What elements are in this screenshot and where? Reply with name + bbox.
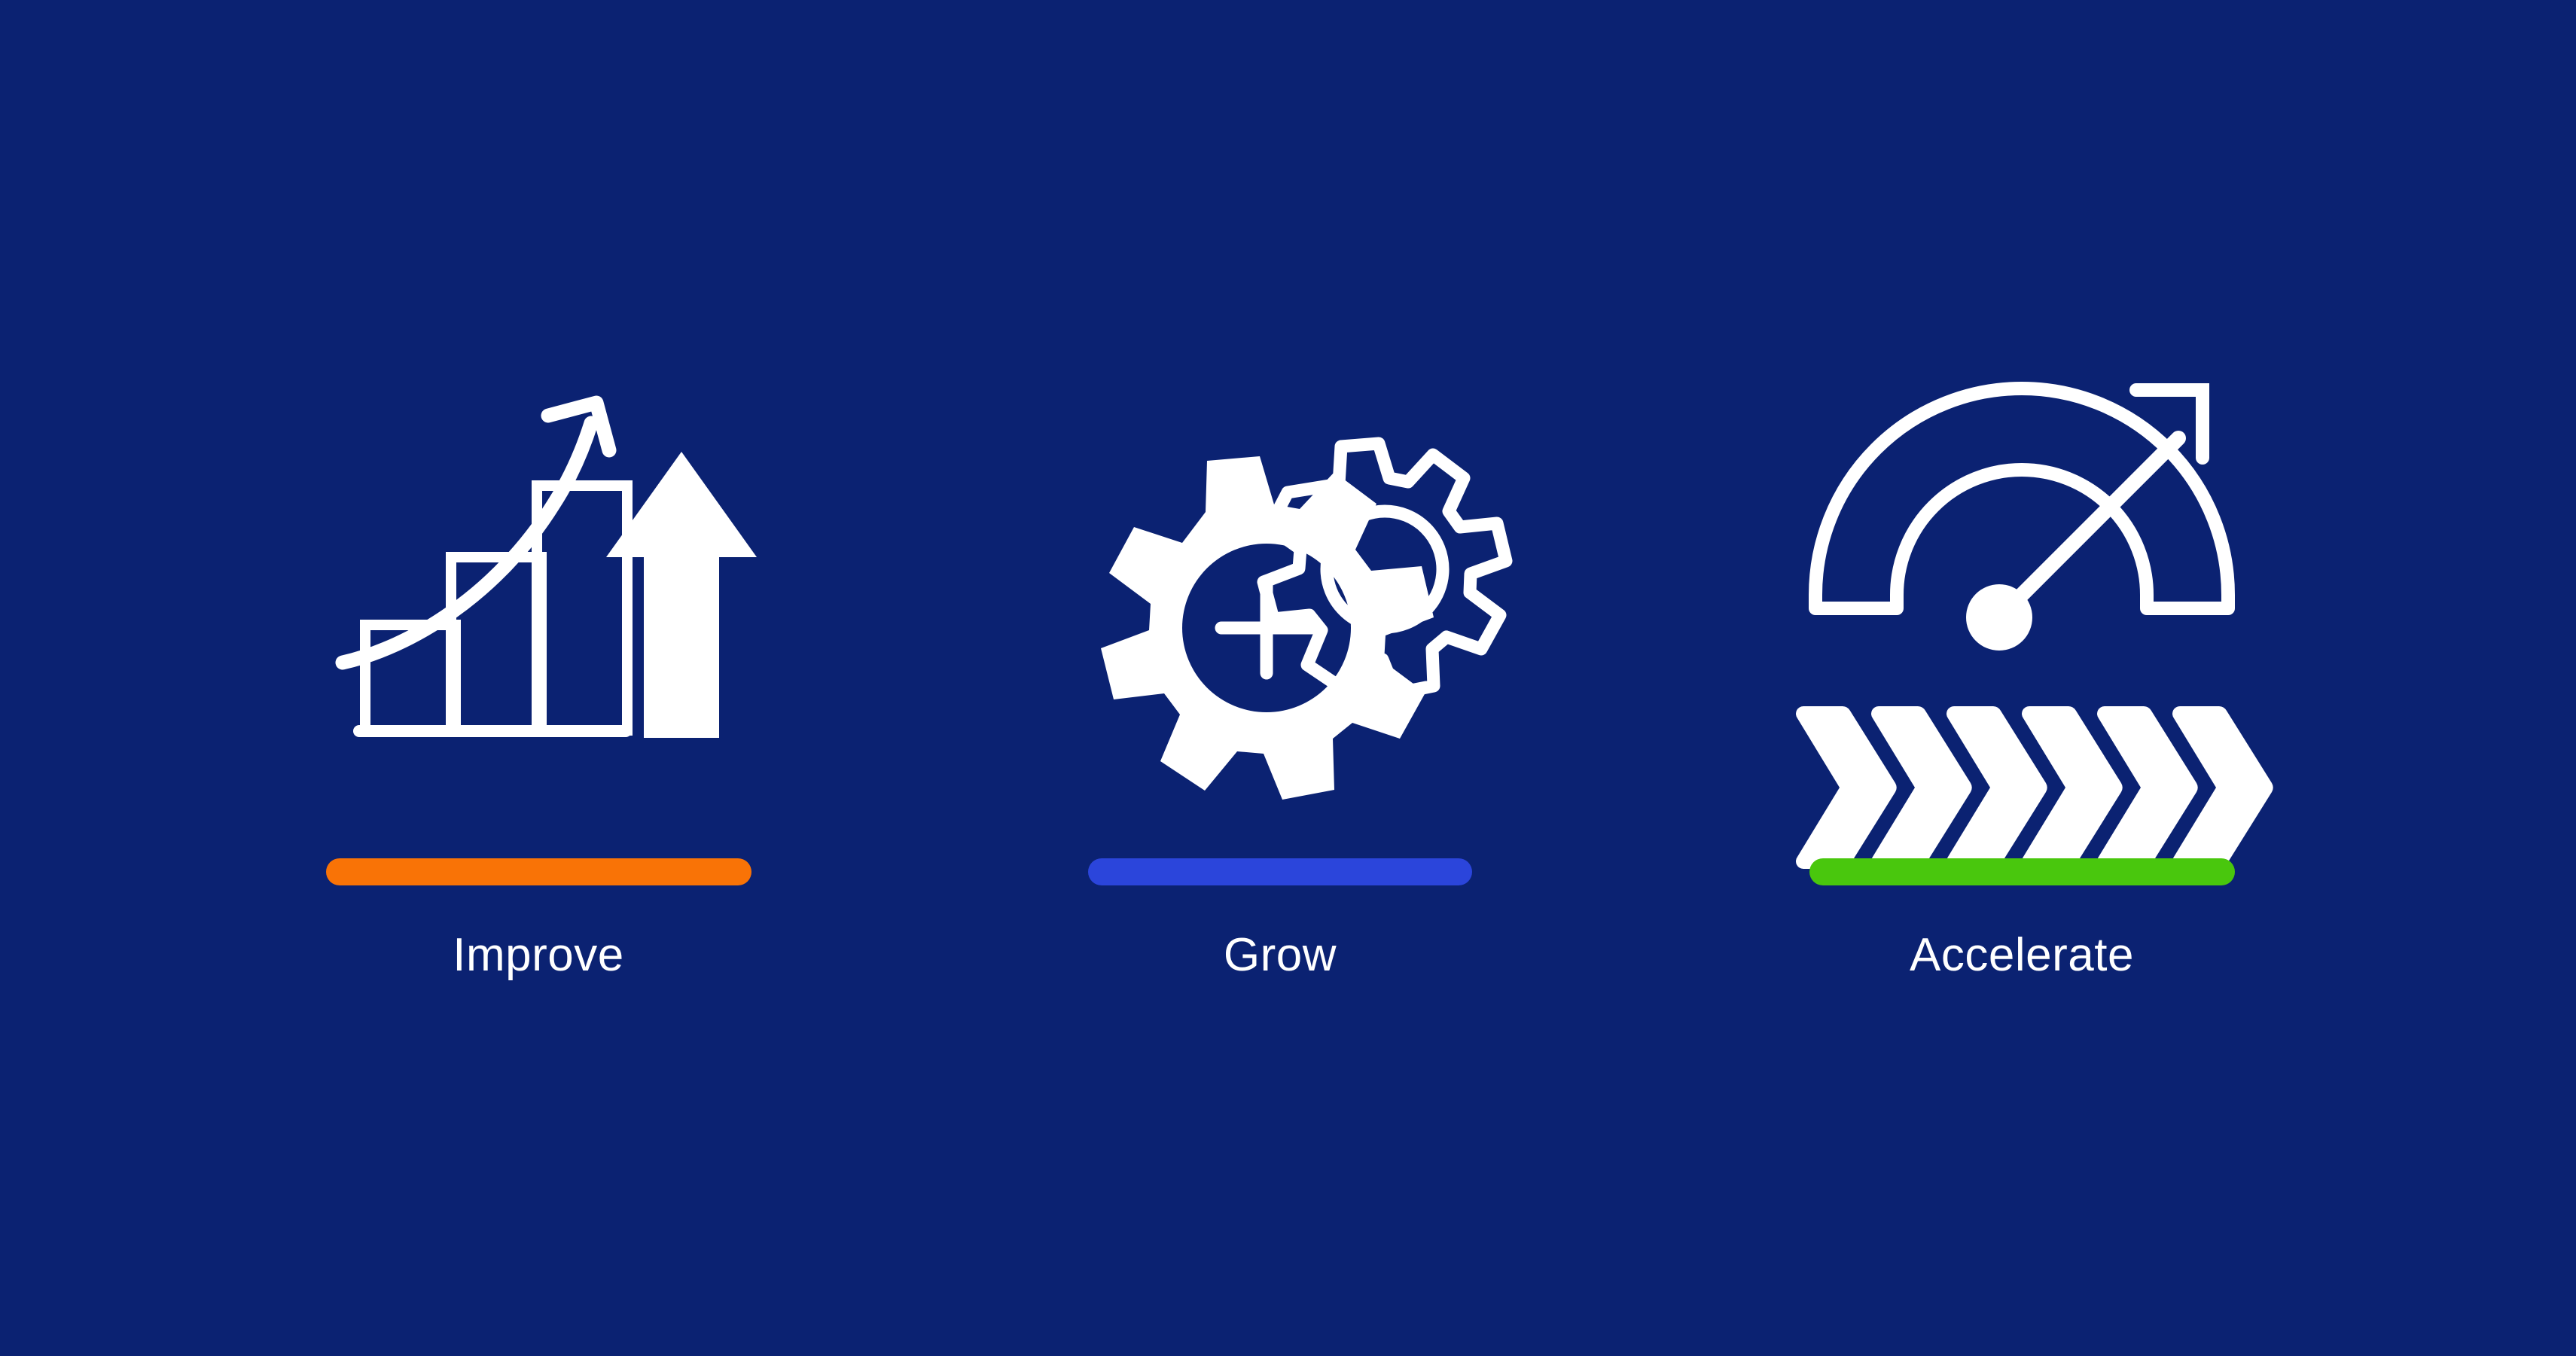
speedometer-chevrons-icon bbox=[1811, 354, 2233, 821]
feature-column-grow[interactable]: Grow bbox=[1069, 354, 1491, 979]
feature-column-accelerate[interactable]: Accelerate bbox=[1811, 354, 2233, 979]
needle-hub bbox=[1966, 584, 2032, 651]
gauge-needle bbox=[2011, 438, 2178, 605]
accent-rule-grow bbox=[1088, 858, 1472, 885]
bar-chart-bar-3 bbox=[537, 486, 627, 730]
accent-rule-improve bbox=[326, 858, 751, 885]
feature-label-grow: Grow bbox=[1224, 932, 1337, 979]
chevron-row bbox=[1796, 706, 2273, 869]
feature-columns: Improve bbox=[0, 0, 2576, 1356]
growth-bar-chart-arrow-icon bbox=[328, 354, 749, 821]
feature-column-improve[interactable]: Improve bbox=[328, 354, 749, 979]
feature-label-improve: Improve bbox=[453, 932, 623, 979]
accent-rule-accelerate bbox=[1809, 858, 2235, 885]
gears-plus-icon bbox=[1069, 354, 1491, 821]
gauge-arcs bbox=[1815, 389, 2228, 608]
slide-canvas: Improve bbox=[0, 0, 2576, 1356]
feature-label-accelerate: Accelerate bbox=[1910, 932, 2134, 979]
